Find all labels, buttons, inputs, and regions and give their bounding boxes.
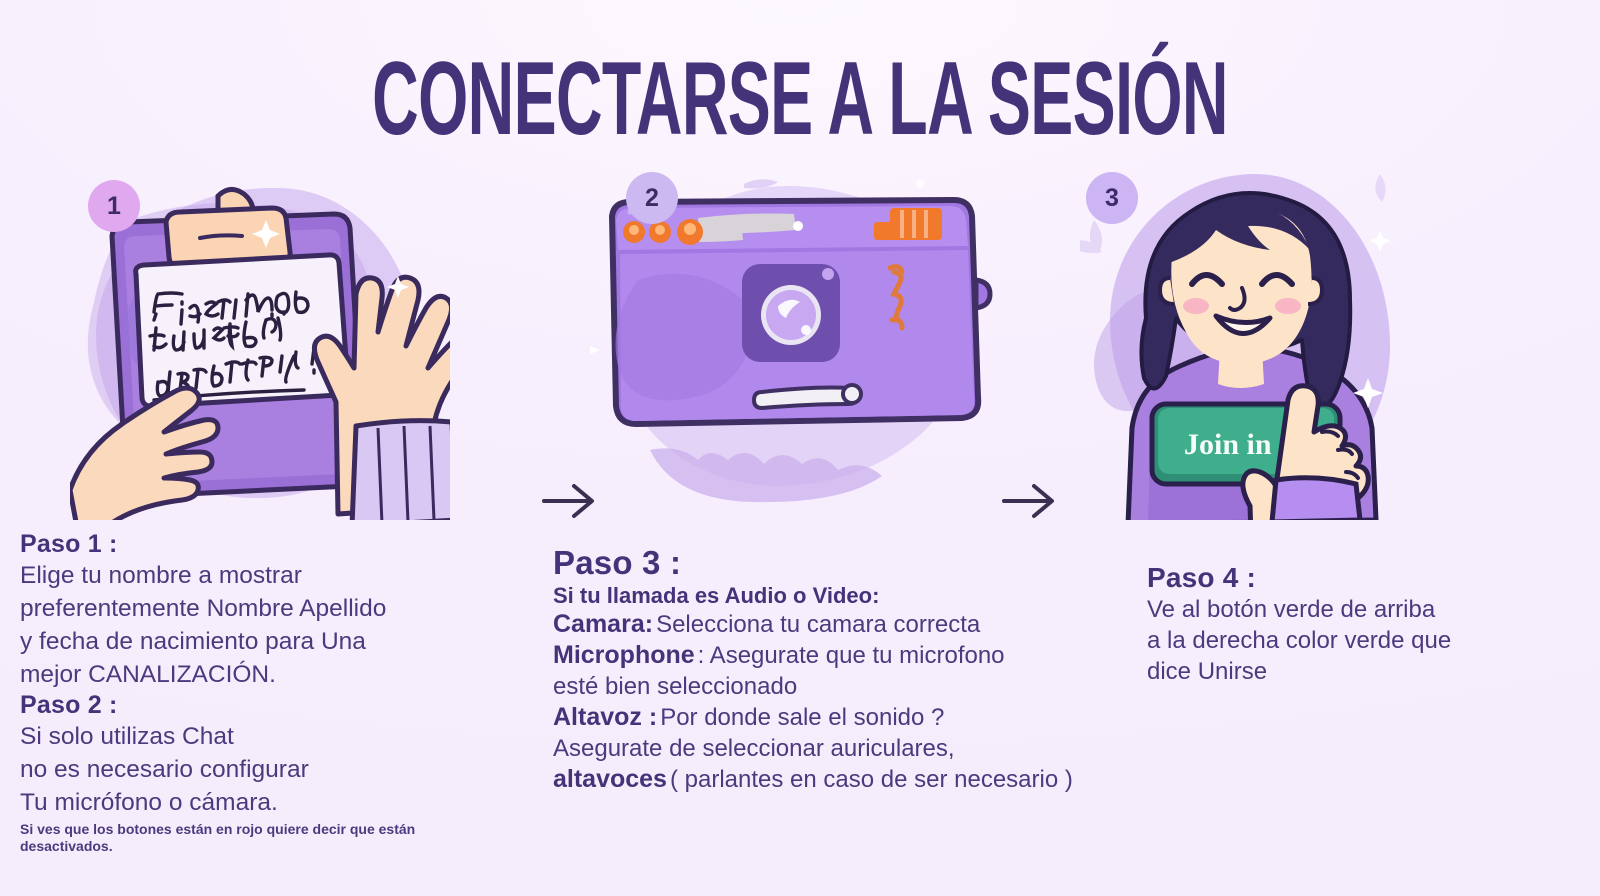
step-2-illustration-panel: 2 xyxy=(590,160,1000,520)
step-3-item-camera: Camara:Selecciona tu camara correcta Mic… xyxy=(553,609,1133,795)
cheek-right xyxy=(1275,298,1301,314)
step-badge-3: 3 xyxy=(1086,172,1138,224)
step-2-body: Si solo utilizas Chat no es necesario co… xyxy=(20,720,490,819)
step-3-illustration-panel: 3 xyxy=(1080,160,1410,520)
label-camera: Camara: xyxy=(553,610,653,638)
arrow-step-2-to-3 xyxy=(1000,480,1062,522)
arrow-step-1-to-2 xyxy=(540,480,602,522)
step-2-line-2: no es necesario configurar xyxy=(20,753,490,786)
text-altavoces: ( parlantes en caso de ser necesario ) xyxy=(670,766,1073,793)
arrow-right-icon xyxy=(544,486,592,516)
step-2-heading: Paso 2 : xyxy=(20,691,490,720)
step-1-line-2: preferentemente Nombre Apellido xyxy=(20,592,490,625)
mode-highlight xyxy=(655,225,665,235)
sleeve xyxy=(352,421,450,520)
left-text-column: Paso 1 : Elige tu nombre a mostrar prefe… xyxy=(20,530,490,855)
camera-shadow xyxy=(650,448,882,502)
steps-illustration-row: 1 xyxy=(0,160,1600,520)
sparkle-icon xyxy=(1353,230,1391,408)
shutter-highlight xyxy=(629,225,639,235)
camera-side-nub xyxy=(976,280,990,308)
text-microphone-cont: esté bien seleccionado xyxy=(553,671,1133,702)
arrow-right-icon xyxy=(1004,486,1052,516)
text-microphone: : Asegurate que tu microfono xyxy=(698,642,1005,669)
text-camera: Selecciona tu camara correcta xyxy=(656,611,980,638)
sleeve-right xyxy=(1272,478,1360,520)
step-1-illustration-panel: 1 xyxy=(70,160,450,520)
infographic-canvas: CONECTARSE A LA SESIÓN 1 xyxy=(0,0,1600,896)
text-altavoz: Por donde sale el sonido ? xyxy=(660,704,944,731)
lens-corner-dot xyxy=(822,268,834,280)
footnote: Si ves que los botones están en rojo qui… xyxy=(20,821,490,855)
step-1-line-4: mejor CANALIZACIÓN. xyxy=(20,658,490,691)
label-microphone: Microphone xyxy=(553,641,695,669)
page-title: CONECTARSE A LA SESIÓN xyxy=(304,47,1296,151)
step-4-line-3: dice Unirse xyxy=(1147,656,1557,687)
flash-small-panel xyxy=(874,222,894,240)
step-2-line-3: Tu micrófono o cámara. xyxy=(20,786,490,819)
lens-dot xyxy=(801,325,811,335)
step-4-line-2: a la derecha color verde que xyxy=(1147,625,1557,656)
step-1-line-3: y fecha de nacimiento para Una xyxy=(20,625,490,658)
label-altavoces: altavoces xyxy=(553,765,667,793)
power-highlight xyxy=(684,223,696,235)
decor-stroke xyxy=(744,179,778,188)
step-badge-2: 2 xyxy=(626,172,678,224)
step-badge-1: 1 xyxy=(88,180,140,232)
right-text-column: Paso 4 : Ve al botón verde de arriba a l… xyxy=(1147,562,1557,687)
step-3-heading: Paso 3 : xyxy=(553,545,1133,582)
viewfinder-strip-lower xyxy=(698,230,743,242)
step-1-line-1: Elige tu nombre a mostrar xyxy=(20,559,490,592)
join-button-label: Join in xyxy=(1184,428,1272,461)
label-altavoz: Altavoz : xyxy=(553,703,657,731)
viewfinder-dot xyxy=(793,221,803,231)
step-4-body: Ve al botón verde de arriba a la derecha… xyxy=(1147,594,1557,687)
step-3-subheading: Si tu llamada es Audio o Video: xyxy=(553,583,1133,609)
cheek-left xyxy=(1183,298,1209,314)
slider-knob xyxy=(843,385,861,403)
step-1-heading: Paso 1 : xyxy=(20,530,490,559)
step-4-heading: Paso 4 : xyxy=(1147,562,1557,594)
middle-text-column: Paso 3 : Si tu llamada es Audio o Video:… xyxy=(553,545,1133,795)
step-4-line-1: Ve al botón verde de arriba xyxy=(1147,594,1557,625)
step-2-line-1: Si solo utilizas Chat xyxy=(20,720,490,753)
text-auriculares: Asegurate de seleccionar auriculares, xyxy=(553,733,1133,764)
step-1-body: Elige tu nombre a mostrar preferentement… xyxy=(20,559,490,691)
hand-pointing-left xyxy=(70,388,218,520)
